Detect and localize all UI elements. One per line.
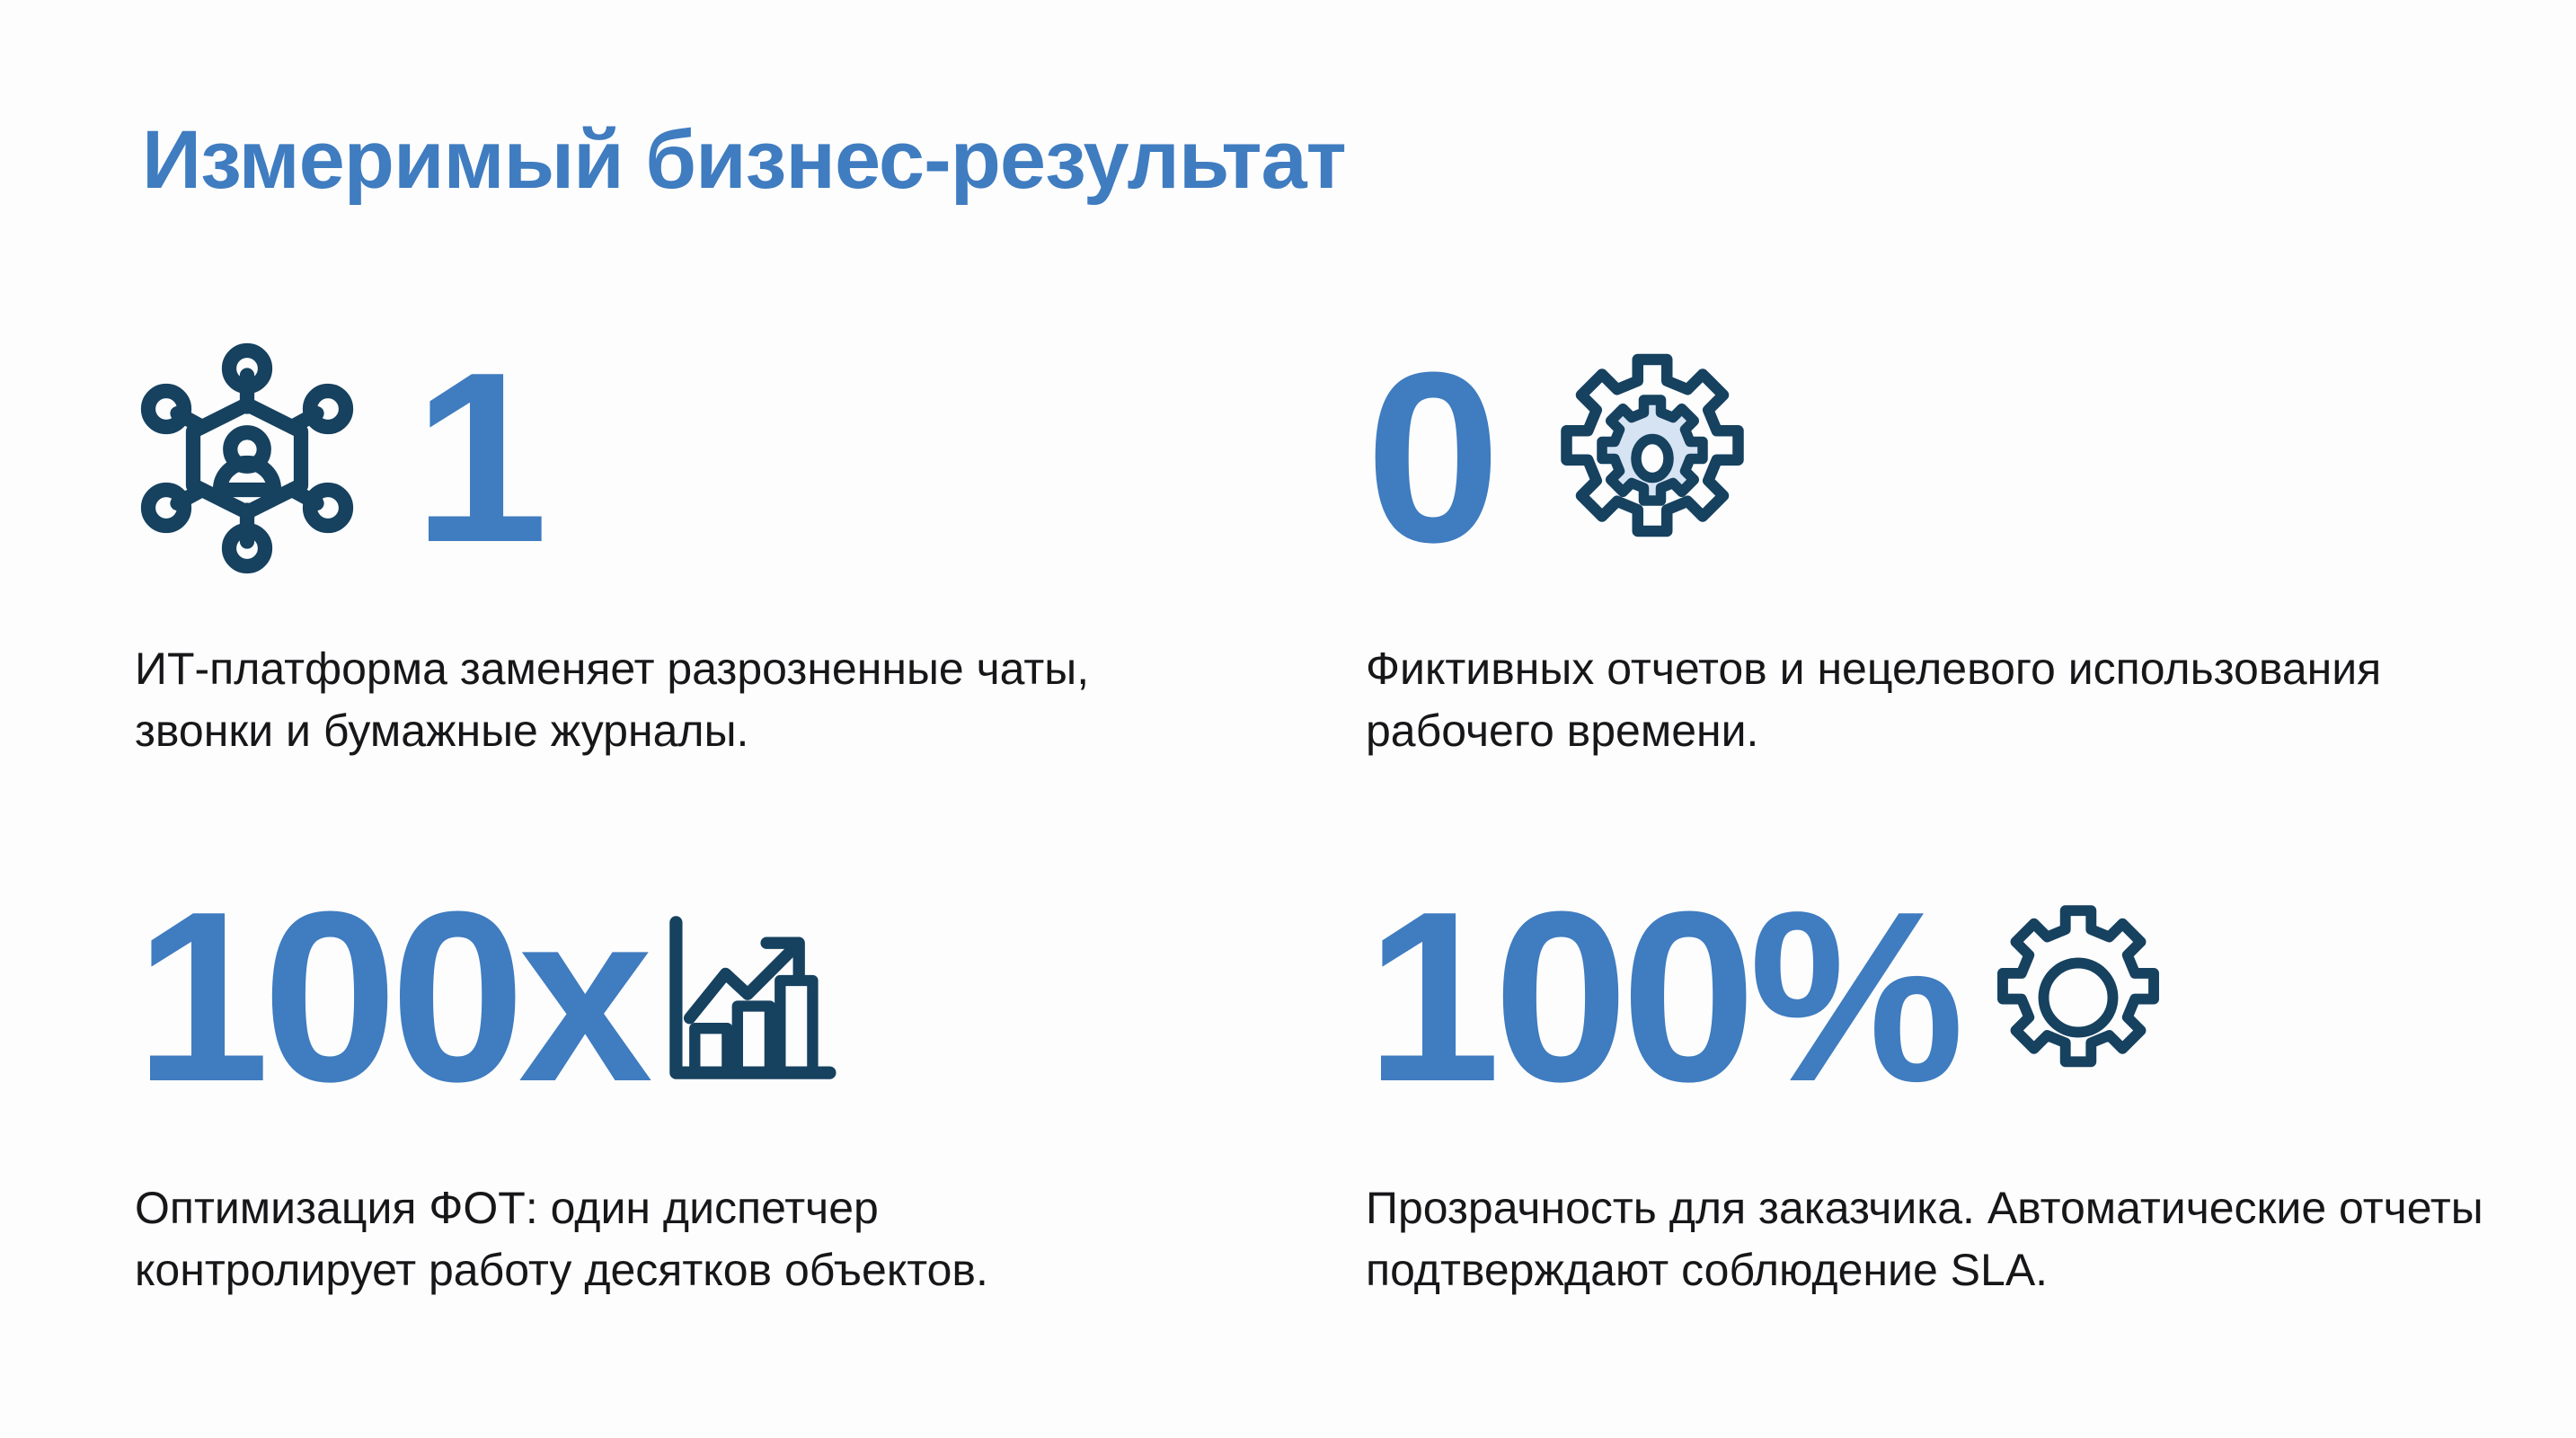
stat-description: Фиктивных отчетов и нецелевого использов… [1366, 638, 2498, 762]
gear-icon [1979, 899, 2177, 1096]
stat-row: 1 [135, 288, 1321, 629]
page-title: Измеримый бизнес-результат [142, 115, 1346, 206]
stat-value: 0 [1366, 337, 1495, 580]
growth-bar-chart-icon [666, 908, 837, 1087]
stat-description: ИТ-платформа заменяет разрозненные чаты,… [135, 638, 1141, 762]
stat-value: 1 [413, 337, 543, 580]
stat-description: Оптимизация ФОТ: один диспетчер контроли… [135, 1177, 1168, 1301]
stats-grid: 1 ИТ-платформа заменяет разрозненные чат… [0, 288, 2576, 1348]
stat-value: 100x [135, 876, 646, 1119]
stat-card-it-platform: 1 ИТ-платформа заменяет разрозненные чат… [135, 288, 1321, 791]
stat-card-customer-transparency: 100% Прозрачность для заказчика. Автомат… [1366, 827, 2552, 1330]
stat-value: 100% [1366, 876, 1958, 1119]
stat-card-payroll-optimization: 100x Оптимизация [135, 827, 1321, 1330]
stat-card-fake-reports: 0 Фиктивных отчетов и нецелевого использ… [1366, 288, 2552, 791]
slide-root: Измеримый бизнес-результат [0, 0, 2576, 1438]
network-person-icon [135, 346, 359, 571]
stat-row: 100% [1366, 827, 2552, 1168]
nested-gears-icon [1540, 346, 1765, 571]
stat-row: 0 [1366, 288, 2552, 629]
stat-description: Прозрачность для заказчика. Автоматическ… [1366, 1177, 2534, 1301]
stat-row: 100x [135, 827, 1321, 1168]
